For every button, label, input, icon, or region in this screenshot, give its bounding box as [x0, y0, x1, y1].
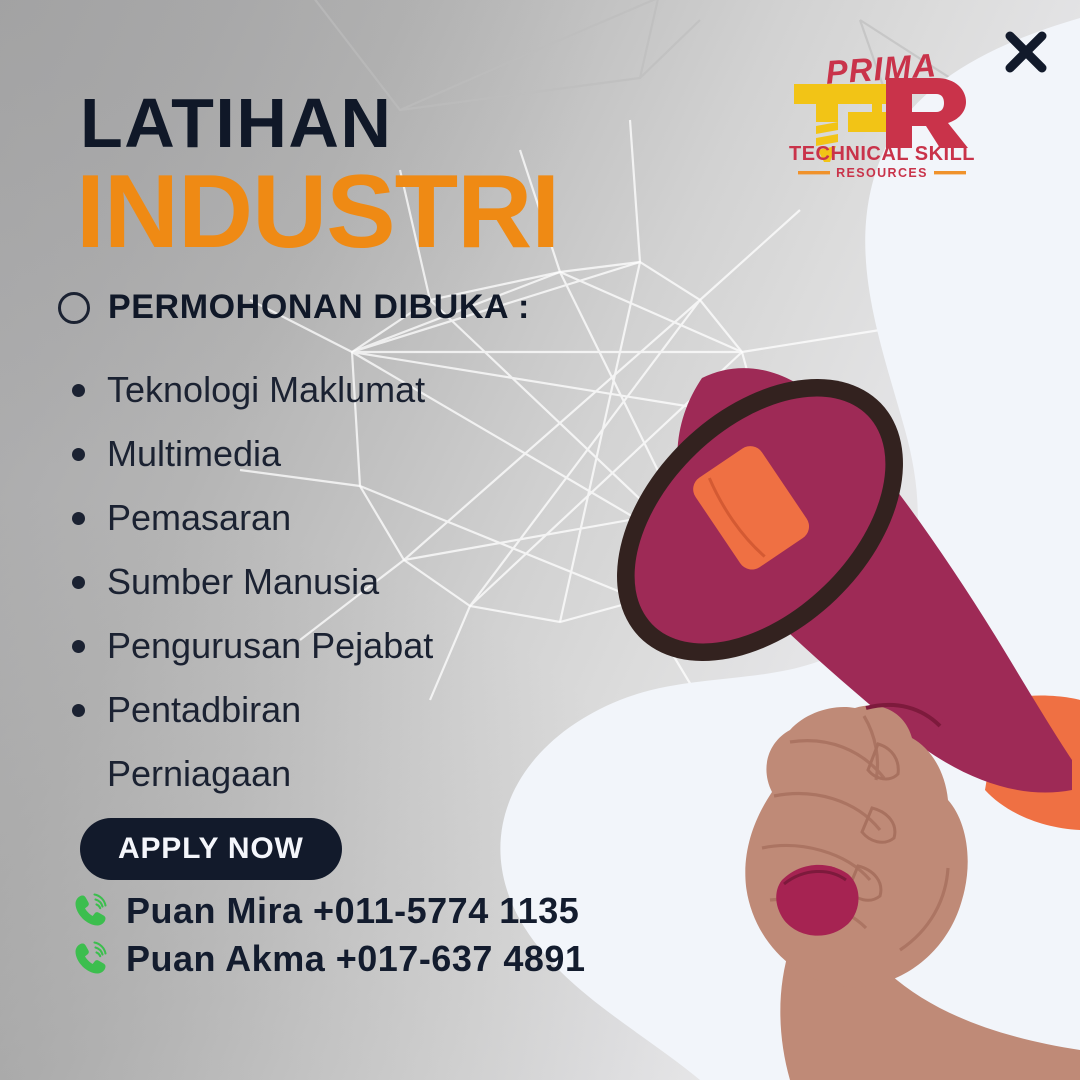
logo-bottom-text: RESOURCES: [836, 166, 928, 180]
list-item: Pemasaran: [72, 486, 632, 550]
contact-row[interactable]: Puan Akma +017-637 4891: [70, 938, 585, 980]
phone-icon: [70, 890, 112, 932]
list-item: Pentadbiran Perniagaan: [72, 678, 632, 806]
subhead-label: PERMOHONAN DIBUKA :: [108, 288, 530, 327]
company-logo: PRIMA TECHNICAL SKILL RESOURCES: [786, 36, 978, 181]
close-icon[interactable]: [1000, 26, 1052, 78]
contact-row[interactable]: Puan Mira +011-5774 1135: [70, 890, 585, 932]
contact-label: Puan Akma +017-637 4891: [126, 938, 585, 980]
bullet-dot-icon: [72, 384, 85, 397]
poster-canvas: PRIMA TECHNICAL SKILL RESOURCES LATI: [0, 0, 1080, 1080]
contact-label: Puan Mira +011-5774 1135: [126, 890, 579, 932]
list-item-label: Teknologi Maklumat: [107, 358, 425, 422]
list-item: Teknologi Maklumat: [72, 358, 632, 422]
bullet-dot-icon: [72, 448, 85, 461]
list-item: Pengurusan Pejabat: [72, 614, 632, 678]
bullet-dot-icon: [72, 576, 85, 589]
list-item-label: Sumber Manusia: [107, 550, 379, 614]
logo-mid-text: TECHNICAL SKILL: [789, 143, 975, 165]
company-logo-artwork: PRIMA TECHNICAL SKILL RESOURCES: [786, 36, 978, 181]
title-line-2: INDUSTRI: [76, 160, 559, 264]
list-item: Sumber Manusia: [72, 550, 632, 614]
list-item-label: Pentadbiran Perniagaan: [107, 678, 301, 806]
bullet-dot-icon: [72, 640, 85, 653]
list-item-label: Pemasaran: [107, 486, 291, 550]
course-list: Teknologi Maklumat Multimedia Pemasaran …: [72, 358, 632, 806]
title-line-1: LATIHAN: [80, 88, 392, 158]
contact-list: Puan Mira +011-5774 1135 Puan Akma +017-…: [70, 890, 585, 980]
list-item: Multimedia: [72, 422, 632, 486]
list-item-label: Pengurusan Pejabat: [107, 614, 433, 678]
circle-bullet-icon: [58, 292, 90, 324]
phone-icon: [70, 938, 112, 980]
close-icon-glyph: [1000, 26, 1052, 78]
bullet-dot-icon: [72, 704, 85, 717]
apply-now-label: APPLY NOW: [118, 832, 304, 866]
subhead-row: PERMOHONAN DIBUKA :: [58, 288, 530, 327]
list-item-label: Multimedia: [107, 422, 281, 486]
bullet-dot-icon: [72, 512, 85, 525]
apply-now-button[interactable]: APPLY NOW: [80, 818, 342, 880]
